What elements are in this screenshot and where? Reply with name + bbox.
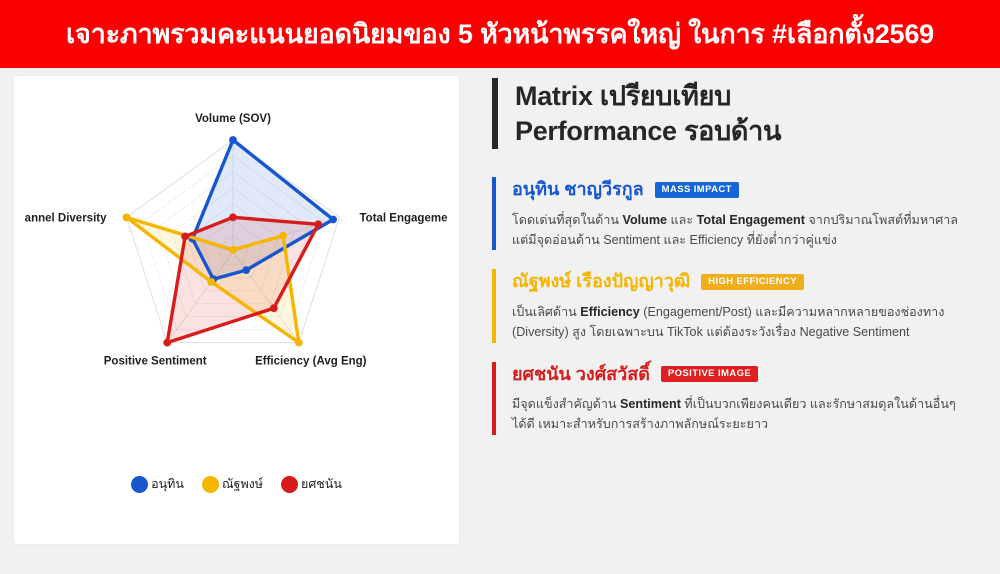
radar-axis-label: Total Engageme — [360, 212, 448, 224]
insight-card-person-name: ยศชนัน วงศ์สวัสดิ์ — [512, 363, 650, 386]
banner-title: เจาะภาพรวมคะแนนยอดนิยมของ 5 หัวหน้าพรรคใ… — [60, 21, 940, 48]
radar-axis-label: Efficiency (Avg Eng) — [255, 356, 367, 368]
legend-color-swatch — [281, 476, 298, 493]
insight-card-badge: MASS IMPACT — [655, 182, 739, 198]
radar-axis-label: Volume (SOV) — [195, 113, 271, 125]
insight-card-header: ยศชนัน วงศ์สวัสดิ์POSITIVE IMAGE — [512, 363, 988, 386]
legend-color-swatch — [131, 476, 148, 493]
insight-card-badge: HIGH EFFICIENCY — [701, 274, 804, 290]
insight-card-list: อนุทิน ชาญวีรกูลMASS IMPACTโดดเด่นที่สุด… — [492, 177, 988, 435]
radar-chart: Volume (SOV)Total EngagemeEfficiency (Av… — [14, 76, 459, 466]
panel-title: Matrix เปรียบเทียบ Performance รอบด้าน — [515, 78, 781, 149]
insight-card-header: อนุทิน ชาญวีรกูลMASS IMPACT — [512, 178, 988, 201]
radar-chart-svg: Volume (SOV)Total EngagemeEfficiency (Av… — [14, 76, 459, 466]
insight-card-body: ยศชนัน วงศ์สวัสดิ์POSITIVE IMAGEมีจุดแข็… — [512, 362, 988, 435]
panel-title-row: Matrix เปรียบเทียบ Performance รอบด้าน — [492, 78, 988, 149]
legend-item[interactable]: ยศชนัน — [281, 474, 342, 494]
legend-item-label: ยศชนัน — [301, 474, 342, 494]
legend-item[interactable]: ณัฐพงษ์ — [202, 474, 263, 494]
insight-card-header: ณัฐพงษ์ เรืองปัญญาวุฒิHIGH EFFICIENCY — [512, 270, 988, 293]
insight-card: ยศชนัน วงศ์สวัสดิ์POSITIVE IMAGEมีจุดแข็… — [492, 362, 988, 435]
insight-card-accent-bar — [492, 362, 496, 435]
legend-item-label: ณัฐพงษ์ — [222, 474, 263, 494]
insight-card-description: โดดเด่นที่สุดในด้าน Volume และ Total Eng… — [512, 210, 964, 251]
insight-card: อนุทิน ชาญวีรกูลMASS IMPACTโดดเด่นที่สุด… — [492, 177, 988, 250]
insight-card-description: เป็นเลิศด้าน Efficiency (Engagement/Post… — [512, 302, 964, 343]
analysis-panel: Matrix เปรียบเทียบ Performance รอบด้าน อ… — [492, 78, 988, 538]
insight-card-badge: POSITIVE IMAGE — [661, 366, 758, 382]
header-banner: เจาะภาพรวมคะแนนยอดนิยมของ 5 หัวหน้าพรรคใ… — [0, 0, 1000, 68]
page-root: เจาะภาพรวมคะแนนยอดนิยมของ 5 หัวหน้าพรรคใ… — [0, 0, 1000, 574]
title-accent-bar — [492, 78, 498, 149]
radar-axis-label: Positive Sentiment — [104, 356, 207, 368]
insight-card-person-name: ณัฐพงษ์ เรืองปัญญาวุฒิ — [512, 270, 690, 293]
insight-card-body: อนุทิน ชาญวีรกูลMASS IMPACTโดดเด่นที่สุด… — [512, 177, 988, 250]
chart-legend: อนุทินณัฐพงษ์ยศชนัน — [14, 474, 459, 494]
radar-axis-label: annel Diversity — [25, 212, 107, 224]
legend-color-swatch — [202, 476, 219, 493]
insight-card-accent-bar — [492, 269, 496, 342]
legend-item-label: อนุทิน — [151, 474, 184, 494]
legend-item[interactable]: อนุทิน — [131, 474, 184, 494]
insight-card-accent-bar — [492, 177, 496, 250]
radar-chart-card: Volume (SOV)Total EngagemeEfficiency (Av… — [14, 76, 459, 544]
insight-card-description: มีจุดแข็งสำคัญด้าน Sentiment ที่เป็นบวกเ… — [512, 394, 964, 435]
insight-card-person-name: อนุทิน ชาญวีรกูล — [512, 178, 644, 201]
insight-card-body: ณัฐพงษ์ เรืองปัญญาวุฒิHIGH EFFICIENCYเป็… — [512, 269, 988, 342]
insight-card: ณัฐพงษ์ เรืองปัญญาวุฒิHIGH EFFICIENCYเป็… — [492, 269, 988, 342]
